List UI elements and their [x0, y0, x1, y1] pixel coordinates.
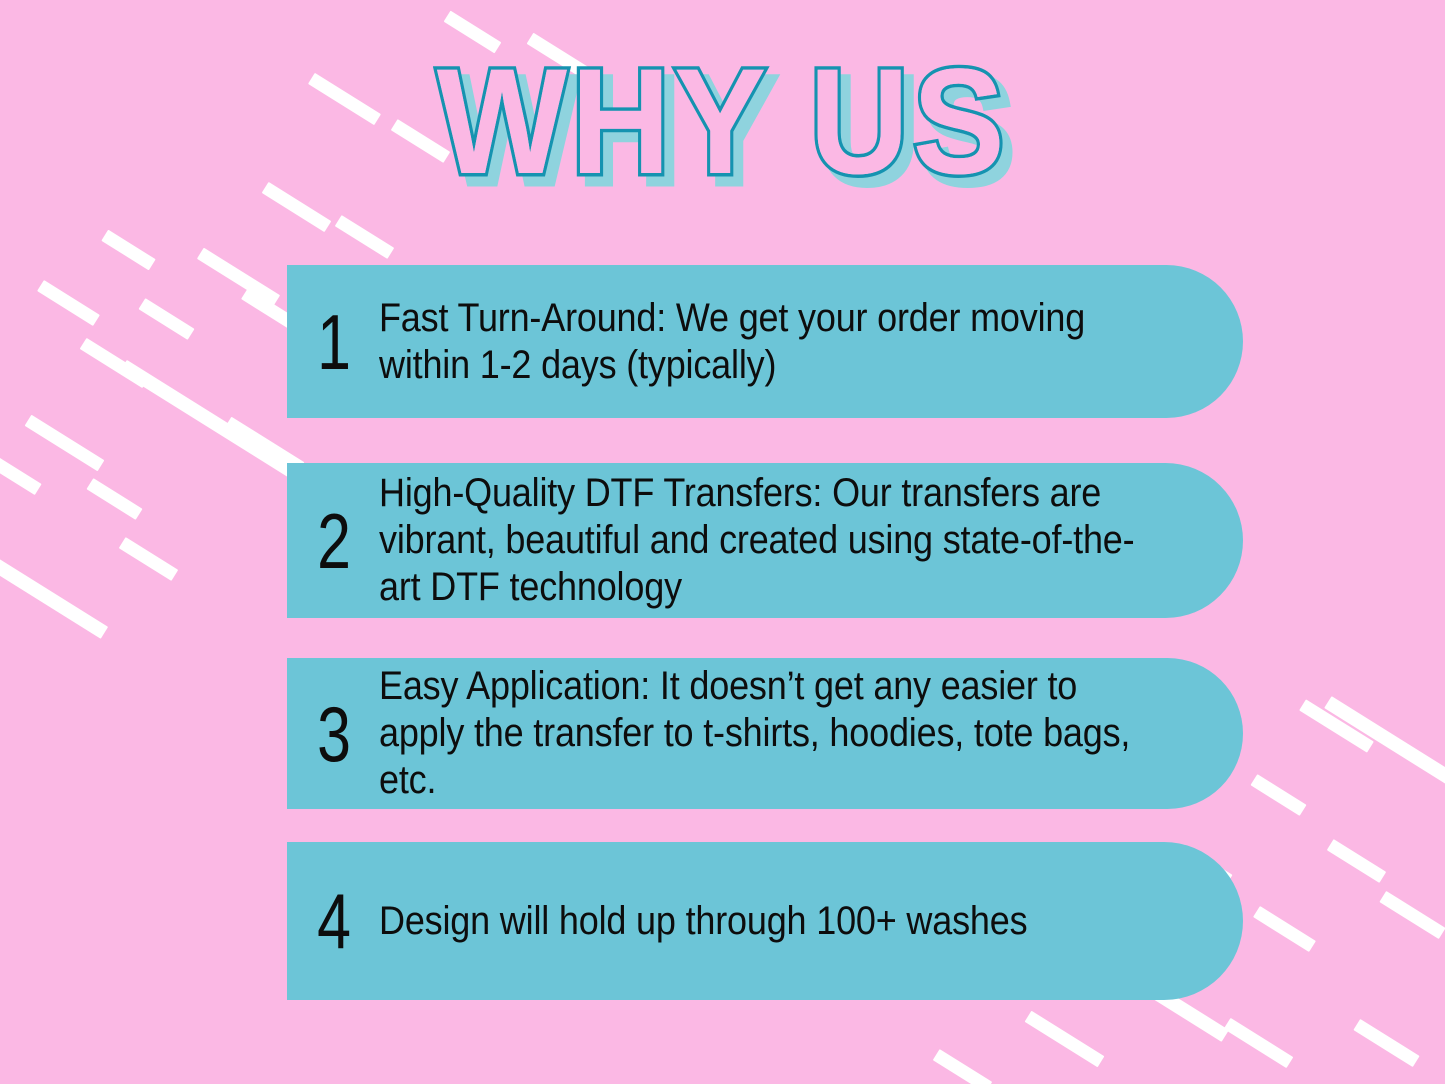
- decor-dash: [1025, 1011, 1105, 1068]
- decor-dash: [138, 298, 194, 340]
- feature-text: Easy Application: It doesn’t get any eas…: [379, 663, 1171, 804]
- feature-card-2: 2 High-Quality DTF Transfers: Our transf…: [287, 463, 1243, 618]
- title-fill-layer: WHY US: [0, 46, 1445, 196]
- decor-dash: [86, 478, 142, 520]
- decor-dash: [25, 415, 105, 472]
- decor-dash: [335, 215, 394, 259]
- feature-card-1: 1 Fast Turn-Around: We get your order mo…: [287, 265, 1243, 418]
- decor-dash: [1379, 891, 1445, 939]
- decor-dash: [0, 525, 108, 639]
- decor-dash: [933, 1049, 992, 1084]
- feature-text: Design will hold up through 100+ washes: [379, 898, 1171, 945]
- feature-number: 4: [311, 882, 356, 960]
- decor-dash: [0, 447, 42, 495]
- decor-dash: [1253, 906, 1316, 952]
- decor-dash: [101, 230, 155, 271]
- feature-number: 1: [311, 303, 356, 381]
- decor-dash: [119, 360, 306, 484]
- feature-number: 3: [311, 695, 356, 773]
- feature-text: Fast Turn-Around: We get your order movi…: [379, 295, 1171, 389]
- decor-dash: [1250, 774, 1306, 816]
- decor-dash: [37, 280, 100, 326]
- feature-card-4: 4 Design will hold up through 100+ washe…: [287, 842, 1243, 1000]
- page-title: WHY US WHY US WHY US: [0, 46, 1445, 196]
- feature-card-3: 3 Easy Application: It doesn’t get any e…: [287, 658, 1243, 809]
- feature-number: 2: [311, 502, 356, 580]
- decor-dash: [1353, 1019, 1419, 1067]
- decor-dash: [1327, 839, 1386, 883]
- decor-dash: [80, 338, 150, 388]
- decor-dash: [1299, 699, 1374, 752]
- decor-dash: [1324, 696, 1445, 812]
- decor-dash: [197, 248, 280, 307]
- decor-dash: [1224, 1018, 1294, 1068]
- feature-text: High-Quality DTF Transfers: Our transfer…: [379, 470, 1171, 611]
- why-us-poster: WHY US WHY US WHY US 1 Fast Turn-Around:…: [0, 0, 1445, 1084]
- decor-dash: [119, 537, 178, 581]
- title-fill-text: WHY US: [437, 46, 1009, 196]
